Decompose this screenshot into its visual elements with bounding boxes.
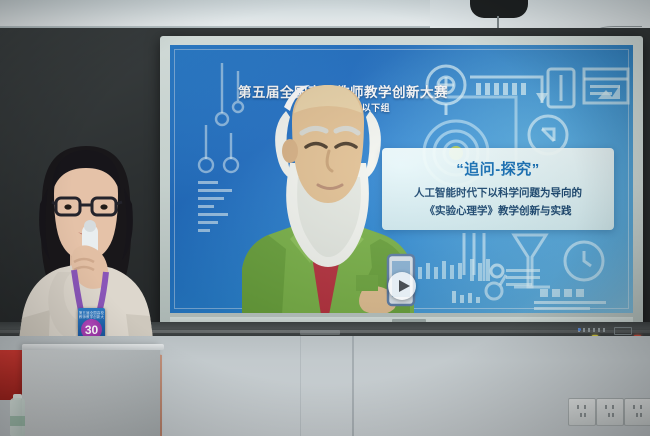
monitor-screen[interactable]: 第五届全国高校教师教学创新大赛 基础课程中级及以下组	[170, 45, 633, 313]
card-line-1: 人工智能时代下以科学问题为导向的	[382, 185, 614, 200]
projector-device	[470, 0, 528, 18]
wall-outlet-2[interactable]	[596, 398, 624, 426]
wall-outlet-3[interactable]	[624, 398, 650, 426]
wall-outlet-1[interactable]	[568, 398, 596, 426]
board-label	[300, 330, 340, 335]
wall-seam-secondary	[300, 336, 301, 436]
outlet-pins-icon	[575, 405, 589, 419]
lectern-top	[22, 344, 164, 350]
outlet-pins-icon	[603, 405, 617, 419]
outlet-pins-icon	[631, 405, 645, 419]
control-slot[interactable]	[614, 327, 632, 335]
wall-seam	[352, 336, 354, 436]
presentation-slide: 第五届全国高校教师教学创新大赛 基础课程中级及以下组	[170, 45, 633, 313]
play-triangle-icon	[399, 280, 410, 292]
badge-number: 30	[85, 324, 98, 336]
card-heading: “追问-探究”	[382, 158, 614, 179]
control-dots[interactable]	[578, 328, 608, 332]
card-line-2: 《实验心理学》教学创新与实践	[382, 203, 614, 218]
play-button[interactable]	[388, 272, 416, 300]
video-frame: 第五届全国高校教师教学创新大赛 基础课程中级及以下组	[0, 0, 650, 436]
display-monitor: 第五届全国高校教师教学创新大赛 基础课程中级及以下组	[160, 36, 643, 332]
slide-text-card: “追问-探究” 人工智能时代下以科学问题为导向的 《实验心理学》教学创新与实践	[382, 148, 614, 230]
power-indicator-dot	[578, 328, 581, 331]
lectern	[22, 346, 160, 436]
water-bottle-label	[10, 416, 25, 426]
